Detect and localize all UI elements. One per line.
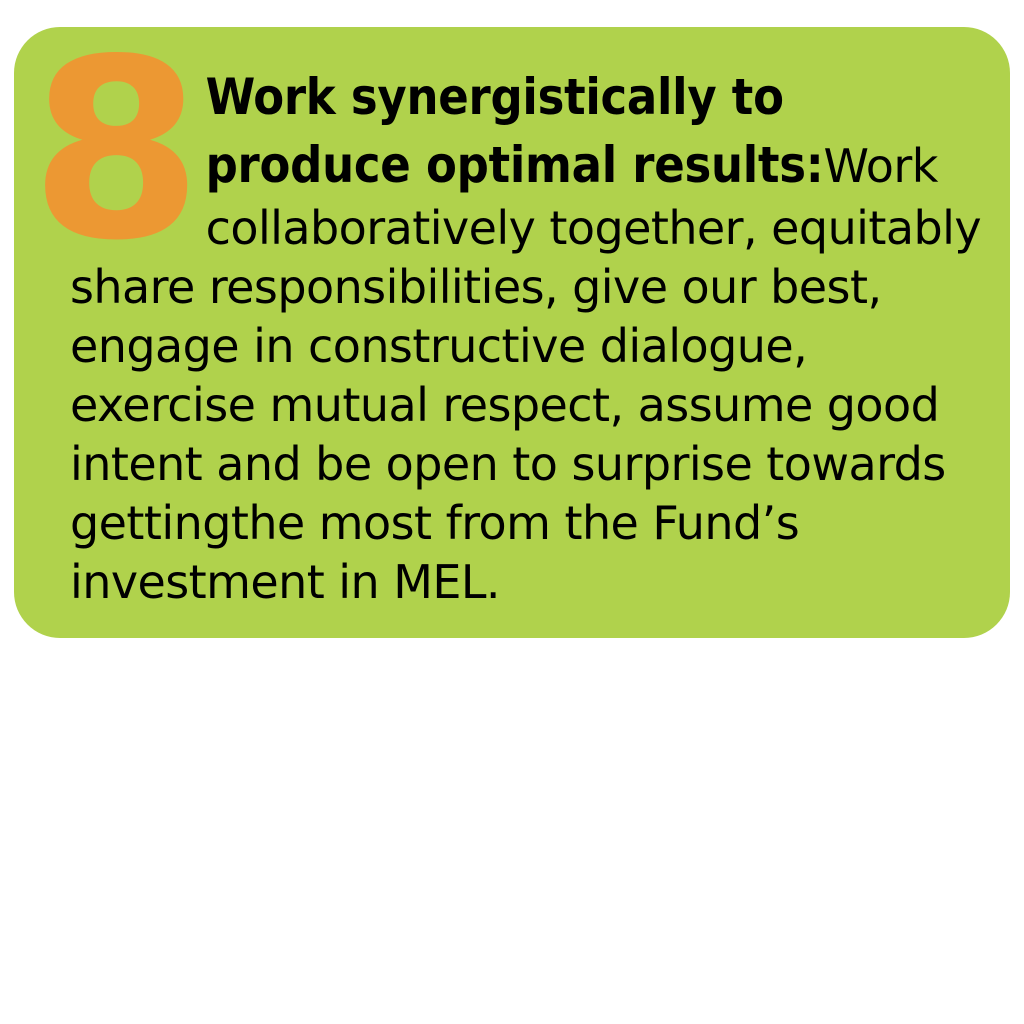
page-canvas: 8 Work synergistically to produce optima… <box>0 0 1024 1024</box>
principle-card: 8 Work synergistically to produce optima… <box>14 27 1010 638</box>
principle-card-content: 8 Work synergistically to produce optima… <box>14 27 1010 638</box>
principle-body-text: Work collaboratively together, equitably… <box>70 139 981 609</box>
principle-number-badge: 8 <box>30 57 198 245</box>
principle-heading: Work synergistically to produce optimal … <box>206 68 824 194</box>
principle-paragraph: Work synergistically to produce optimal … <box>70 63 992 612</box>
